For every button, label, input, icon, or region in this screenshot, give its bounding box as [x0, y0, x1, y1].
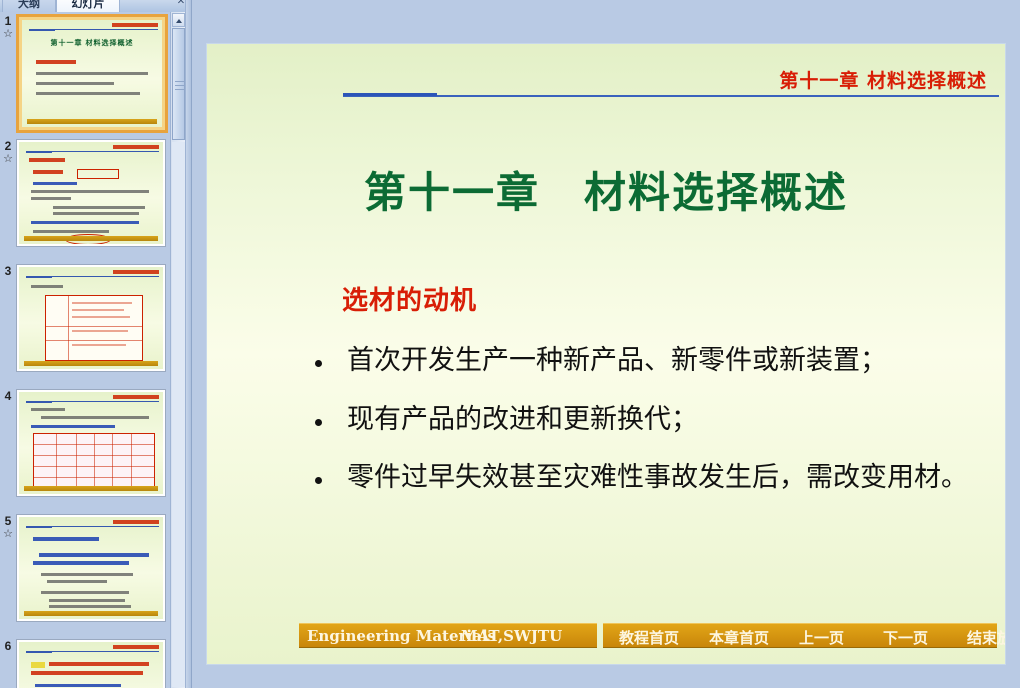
- slide-running-header: 第十一章 材料选择概述: [779, 66, 987, 93]
- thumbnail-frame[interactable]: [16, 139, 166, 247]
- thumbnail-slide-6[interactable]: 6: [0, 637, 170, 688]
- header-rule-accent: [343, 93, 437, 96]
- list-item: 现有产品的改进和更新换代；: [305, 403, 975, 438]
- slide-number-5: 5 ☆: [0, 514, 16, 540]
- thumbnail-slide-4[interactable]: 4: [0, 387, 170, 512]
- thumbnail-frame[interactable]: [16, 389, 166, 497]
- thumbnail-slide-5[interactable]: 5 ☆: [0, 512, 170, 637]
- footer-org-label: MAT,SWJTU: [461, 627, 562, 645]
- scrollbar-thumb[interactable]: [172, 28, 185, 140]
- slide-title: 第十一章 材料选择概述: [207, 159, 1005, 220]
- thumbnail-frame[interactable]: [16, 514, 166, 622]
- thumbnail-frame[interactable]: 第十一章 材料选择概述: [16, 14, 168, 133]
- footer-branding: Engineering Materials MAT,SWJTU: [299, 623, 597, 648]
- slide-bullet-list: 首次开发生产一种新产品、新零件或新装置； 现有产品的改进和更新换代； 零件过早失…: [305, 344, 975, 520]
- thumbnail-preview: 第十一章 材料选择概述: [22, 20, 162, 127]
- slide-footer: Engineering Materials MAT,SWJTU 教程首页 本章首…: [299, 623, 997, 648]
- thumbnail-frame[interactable]: [16, 639, 166, 688]
- header-rule: [343, 95, 999, 97]
- slide-thumbnail-pane[interactable]: 1 ☆ 第十一章 材料选择概述 2 ☆: [0, 12, 170, 688]
- thumbnail-preview: [19, 392, 163, 494]
- powerpoint-window: 大纲 幻灯片 ✕ 1 ☆ 第十一章 材料选择概述: [0, 0, 1020, 688]
- nav-previous-page-button[interactable]: 上一页: [799, 627, 844, 648]
- scroll-up-arrow-icon: [176, 19, 182, 23]
- nav-end-show-button[interactable]: 结束放映: [967, 627, 1006, 648]
- slide-stage: 第十一章 材料选择概述 第十一章 材料选择概述 选材的动机 首次开发生产一种新产…: [192, 0, 1020, 688]
- slide-number-6: 6: [0, 639, 16, 653]
- pane-splitter[interactable]: [185, 0, 192, 688]
- slide-subheading: 选材的动机: [342, 280, 477, 317]
- animation-star-icon: ☆: [0, 28, 16, 40]
- footer-navigation: 教程首页 本章首页 上一页 下一页 结束放映: [603, 623, 997, 648]
- thumbnail-slide-1[interactable]: 1 ☆ 第十一章 材料选择概述: [0, 12, 170, 137]
- scroll-up-button[interactable]: [172, 13, 185, 27]
- list-item: 零件过早失效甚至灾难性事故发生后，需改变用材。: [305, 461, 975, 496]
- slide-number-3: 3: [0, 264, 16, 278]
- thumbnail-pane-scrollbar[interactable]: [170, 12, 186, 688]
- animation-star-icon: ☆: [0, 153, 16, 165]
- slide-number-4: 4: [0, 389, 16, 403]
- thumbnail-preview: [19, 142, 163, 244]
- thumbnail-slide-3[interactable]: 3: [0, 262, 170, 387]
- slide-number-1: 1 ☆: [0, 14, 16, 40]
- slide-number-2: 2 ☆: [0, 139, 16, 165]
- nav-next-page-button[interactable]: 下一页: [883, 627, 928, 648]
- scrollbar-track[interactable]: [172, 142, 185, 687]
- thumbnail-preview: [19, 517, 163, 619]
- list-item: 首次开发生产一种新产品、新零件或新装置；: [305, 344, 975, 379]
- animation-star-icon: ☆: [0, 528, 16, 540]
- thumbnail-slide-2[interactable]: 2 ☆: [0, 137, 170, 262]
- thumbnail-frame[interactable]: [16, 264, 166, 372]
- nav-course-home-button[interactable]: 教程首页: [619, 627, 679, 648]
- thumbnail-preview: [19, 642, 163, 688]
- thumbnail-preview: [19, 267, 163, 369]
- current-slide[interactable]: 第十一章 材料选择概述 第十一章 材料选择概述 选材的动机 首次开发生产一种新产…: [206, 43, 1006, 665]
- nav-chapter-home-button[interactable]: 本章首页: [709, 627, 769, 648]
